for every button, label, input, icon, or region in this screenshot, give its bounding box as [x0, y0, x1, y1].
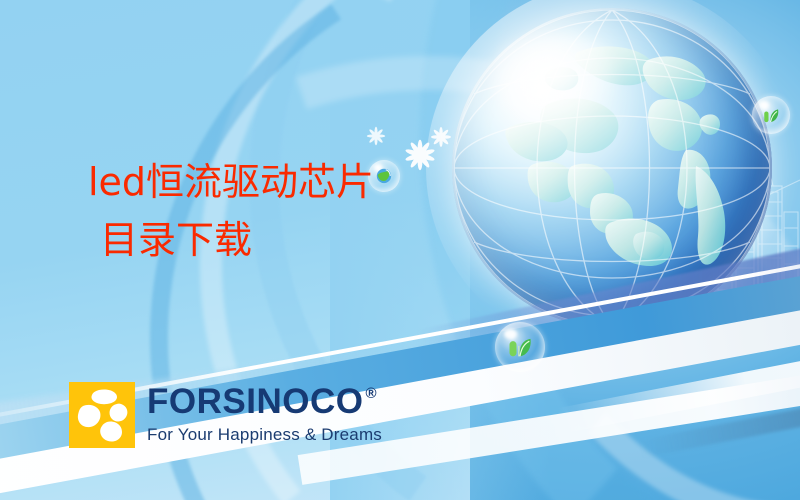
slide-canvas: led恒流驱动芯片 目录下载 FORSINOCO ® For Your Happ…: [0, 0, 800, 500]
logo-tagline: For Your Happiness & Dreams: [147, 426, 382, 443]
white-daisy-tiny-icon: [430, 126, 452, 153]
company-logo[interactable]: FORSINOCO ® For Your Happiness & Dreams: [69, 382, 382, 448]
bubble-green-sprout-icon: [495, 322, 545, 372]
logo-text-block: FORSINOCO ® For Your Happiness & Dreams: [147, 382, 382, 443]
title-line-1: led恒流驱动芯片: [88, 163, 374, 201]
logo-pinwheel-icon: [69, 382, 135, 448]
title-line-2: 目录下载: [100, 221, 374, 259]
white-daisy-small-icon: [366, 126, 386, 151]
logo-name-text: FORSINOCO: [147, 384, 363, 419]
logo-wordmark: FORSINOCO ®: [147, 384, 382, 419]
bubble-green-leaf-icon: [752, 96, 790, 134]
registered-trademark-icon: ®: [365, 386, 377, 401]
title-block: led恒流驱动芯片 目录下载: [88, 163, 374, 259]
globe-specular-highlight: [492, 34, 622, 124]
